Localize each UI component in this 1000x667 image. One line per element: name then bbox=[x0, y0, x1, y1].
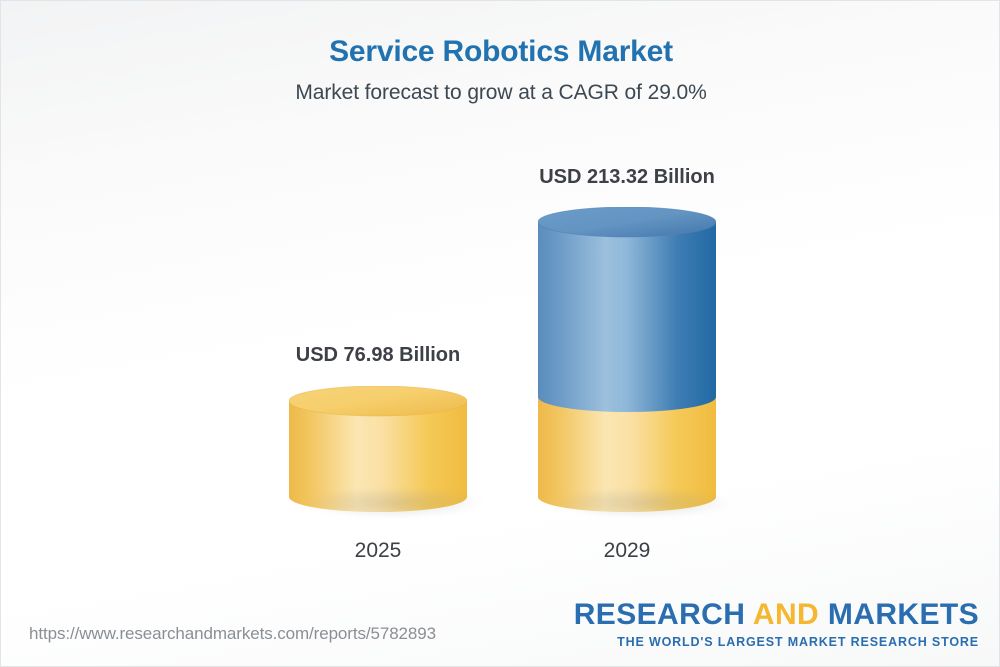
x-axis-label-2029: 2029 bbox=[498, 539, 756, 563]
logo-wordmark: RESEARCH AND MARKETS bbox=[574, 600, 979, 630]
data-label-2025: USD 76.98 Billion bbox=[249, 344, 507, 367]
logo-text-markets: MARKETS bbox=[828, 598, 979, 631]
data-label-2029: USD 213.32 Billion bbox=[498, 166, 756, 189]
logo-text-research: RESEARCH bbox=[574, 598, 746, 631]
x-axis-label-2025: 2025 bbox=[249, 539, 507, 563]
cylinder-shadow bbox=[554, 488, 732, 518]
plot-area: USD 76.98 Billion bbox=[1, 1, 1000, 667]
cylinder-shadow bbox=[305, 488, 483, 518]
chart-canvas: Service Robotics Market Market forecast … bbox=[0, 0, 1000, 667]
cylinder-2029[interactable] bbox=[538, 207, 716, 512]
report-url[interactable]: https://www.researchandmarkets.com/repor… bbox=[29, 624, 436, 644]
cylinder-2025[interactable] bbox=[289, 386, 467, 512]
logo-text-and: AND bbox=[753, 598, 819, 631]
logo-tagline: THE WORLD'S LARGEST MARKET RESEARCH STOR… bbox=[574, 636, 979, 649]
cylinder-2029-graphic bbox=[538, 207, 716, 512]
research-and-markets-logo[interactable]: RESEARCH AND MARKETS THE WORLD'S LARGEST… bbox=[574, 600, 979, 649]
